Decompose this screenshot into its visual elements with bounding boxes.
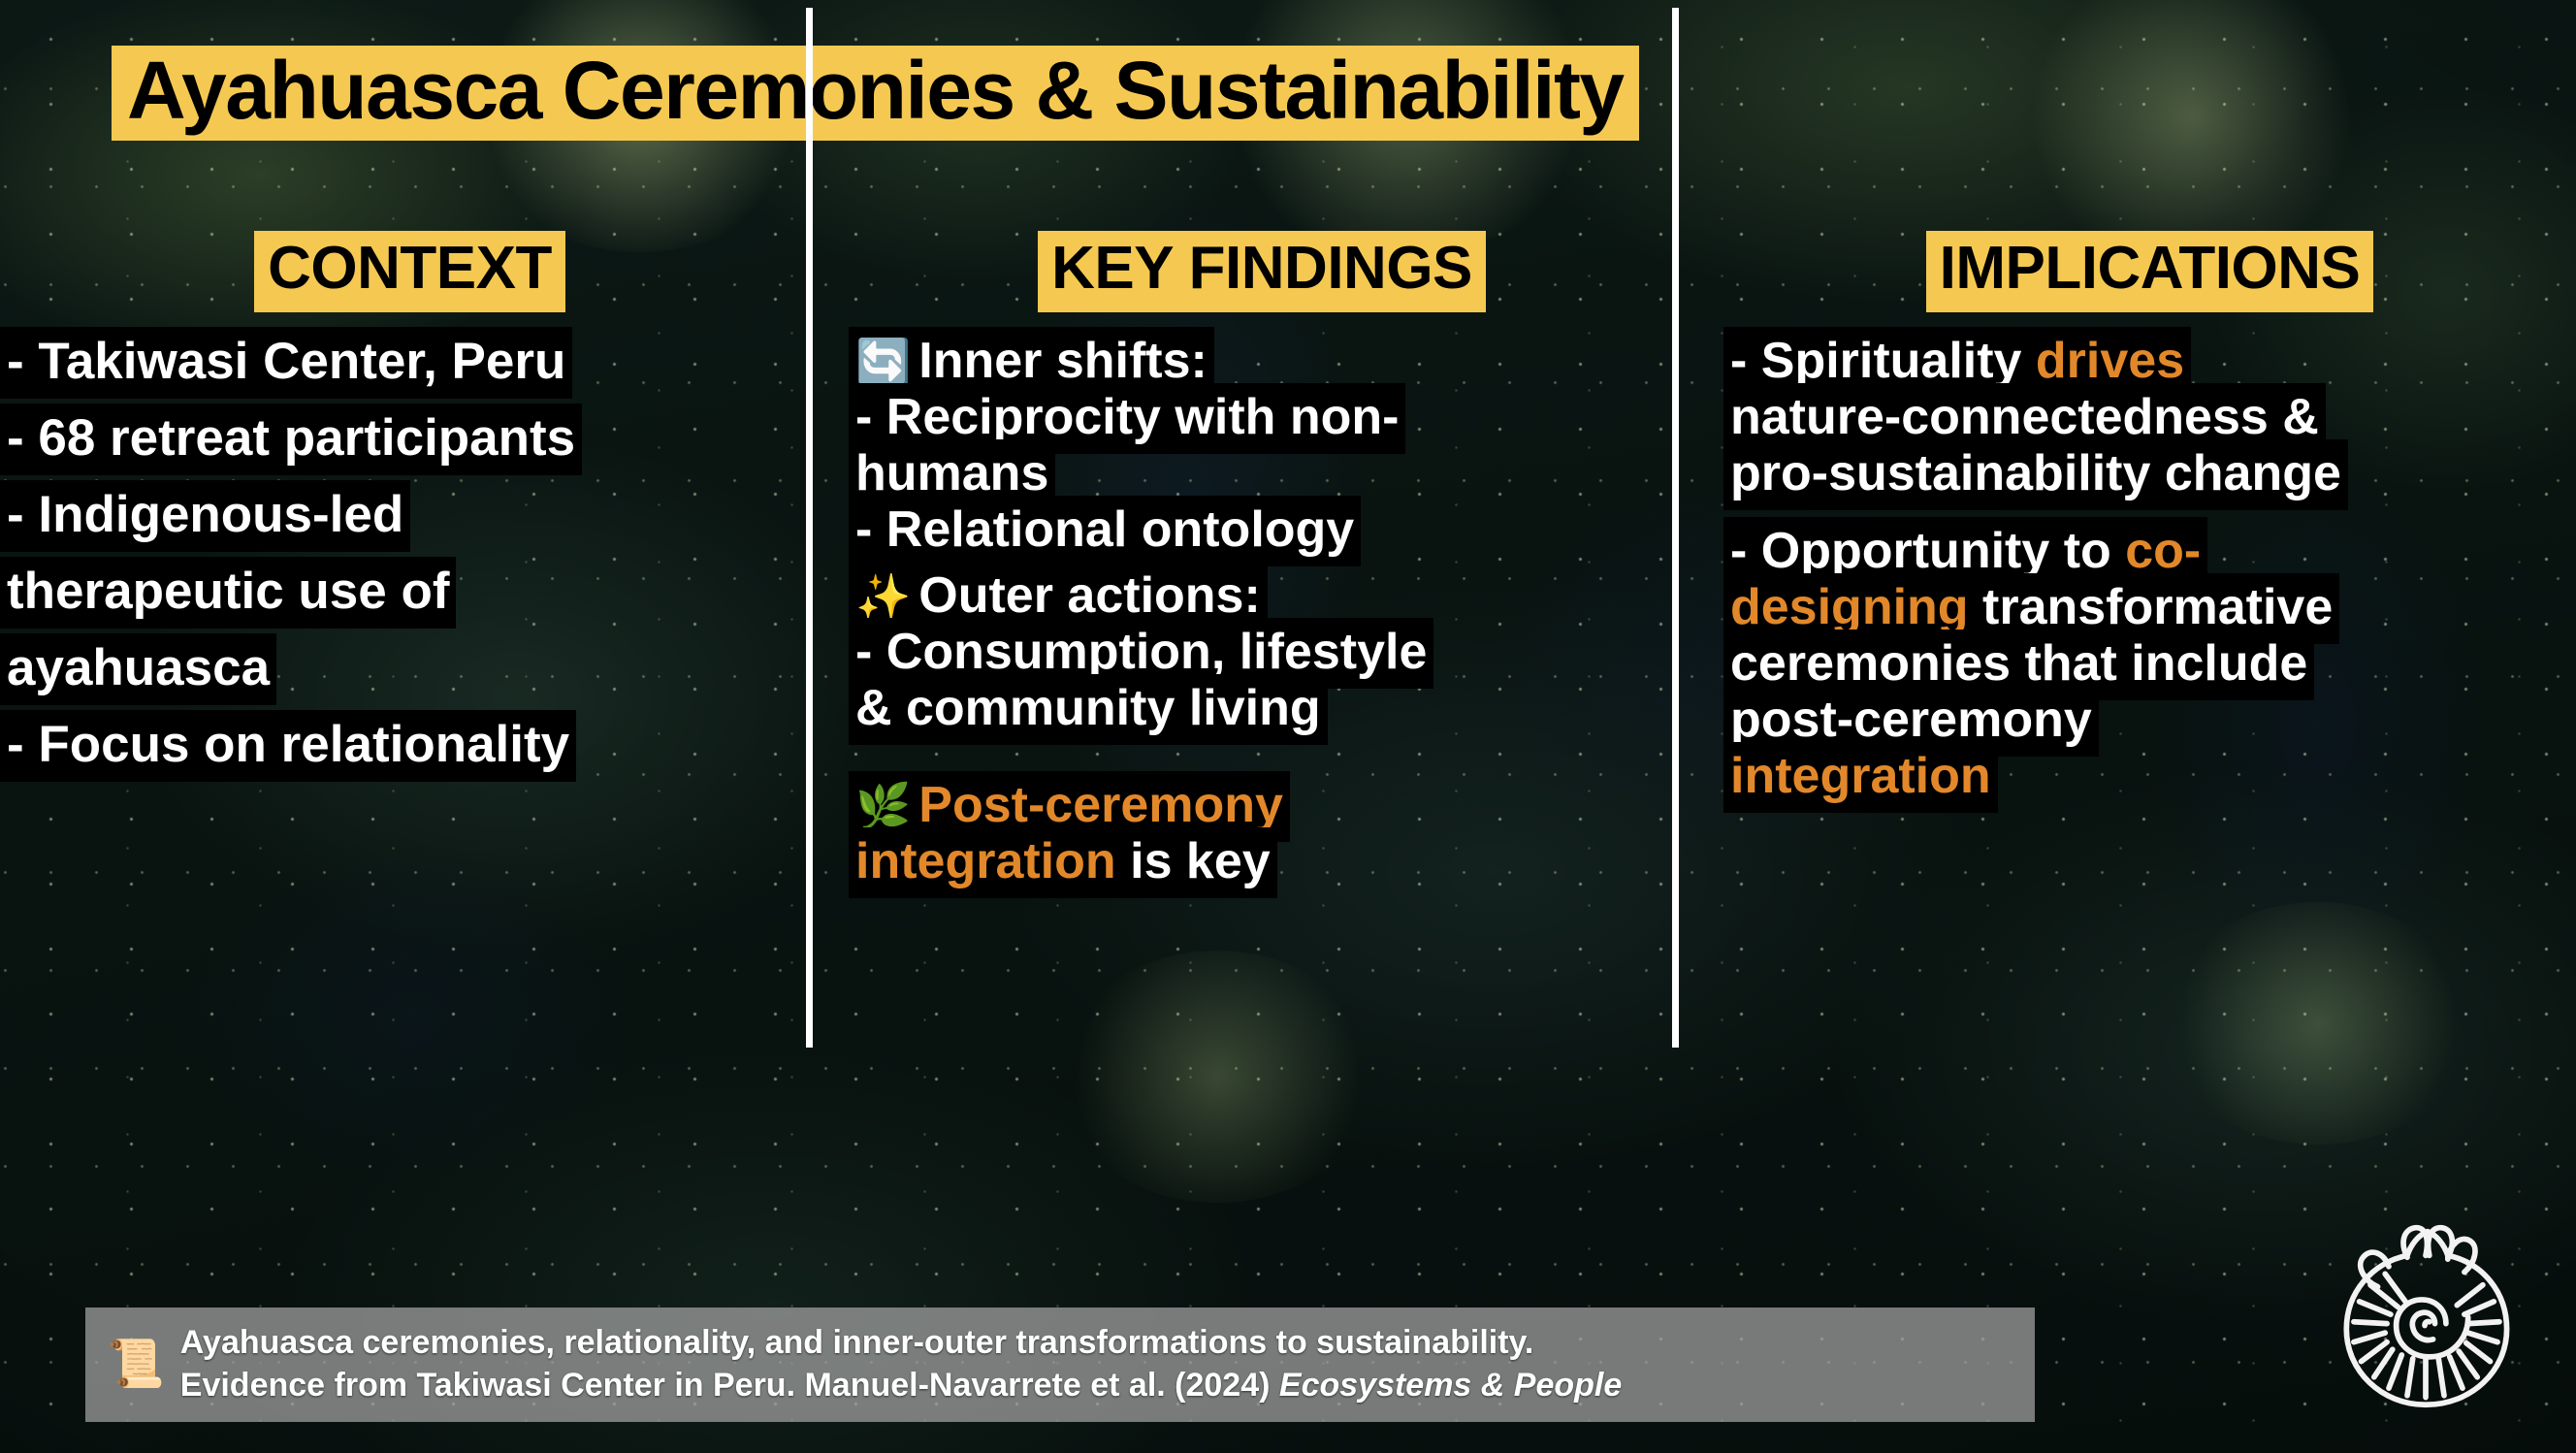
post-ceremony-line-2: integration is key [849, 836, 1675, 887]
implications-bullet1-line3: pro-sustainability change [1723, 448, 2576, 499]
inner-shifts-label: Inner shifts: [918, 333, 1207, 389]
outer-actions-label-line: ✨Outer actions: [849, 570, 1675, 621]
column-heading-implications: IMPLICATIONS [1926, 231, 2374, 312]
implications-bullet2-line5: integration [1723, 751, 2576, 801]
caption-line-1: Ayahuasca ceremonies, relationality, and… [180, 1322, 1623, 1365]
drives-orange: drives [2036, 333, 2184, 389]
columns-container: CONTEXT - Takiwasi Center, Peru - 68 ret… [0, 231, 2576, 1288]
context-body: - Takiwasi Center, Peru - 68 retreat par… [0, 336, 810, 770]
column-key-findings: KEY FINDINGS 🔄Inner shifts: - Reciprocit… [810, 231, 1675, 1288]
key-findings-body: 🔄Inner shifts: - Reciprocity with non- h… [849, 336, 1675, 887]
caption-citation: Evidence from Takiwasi Center in Peru. M… [180, 1367, 1279, 1404]
inner-shifts-bullet: - Relational ontology [849, 504, 1675, 555]
implications-bullet2-line3: ceremonies that include [1723, 638, 2576, 689]
column-divider-right [1672, 8, 1679, 1048]
outer-actions-bullet: & community living [849, 683, 1675, 733]
source-caption-bar: 📜 Ayahuasca ceremonies, relationality, a… [85, 1308, 2035, 1422]
implications-bullet2-line2: designing transformative [1723, 582, 2576, 632]
implications-bullet1-line2: nature-connectedness & [1723, 392, 2576, 442]
column-divider-left [806, 8, 813, 1048]
sparkles-icon: ✨ [855, 574, 911, 619]
column-heading-key-findings: KEY FINDINGS [1038, 231, 1486, 312]
ammonite-spiral-shell-logo [2334, 1220, 2518, 1414]
column-heading-context: CONTEXT [254, 231, 565, 312]
context-line: - Takiwasi Center, Peru [0, 336, 810, 387]
opportunity-white: - Opportunity to [1730, 523, 2125, 579]
column-implications: IMPLICATIONS - Spirituality drives natur… [1675, 231, 2576, 1288]
caption-line-2: Evidence from Takiwasi Center in Peru. M… [180, 1365, 1623, 1407]
page-title: Ayahuasca Ceremonies & Sustainability [127, 49, 1624, 131]
caption-journal-name: Ecosystems & People [1279, 1367, 1622, 1404]
implications-heading-row: IMPLICATIONS [1723, 231, 2576, 312]
implications-bullet2-line1: - Opportunity to co- [1723, 526, 2576, 576]
implications-bullet2-line4: post-ceremony [1723, 694, 2576, 745]
inner-shifts-bullet: - Reciprocity with non- [849, 392, 1675, 442]
column-context: CONTEXT - Takiwasi Center, Peru - 68 ret… [0, 231, 810, 1288]
key-findings-heading-row: KEY FINDINGS [849, 231, 1675, 312]
implications-body: - Spirituality drives nature-connectedne… [1723, 336, 2576, 801]
transformative-white: transformative [1969, 579, 2334, 635]
integration-orange: integration [1730, 748, 1991, 804]
slide-root: Ayahuasca Ceremonies & Sustainability CO… [0, 0, 2576, 1453]
slide-title-banner: Ayahuasca Ceremonies & Sustainability [112, 46, 1639, 141]
counterclockwise-arrows-loop-icon: 🔄 [855, 339, 911, 384]
spirituality-white: - Spirituality [1730, 333, 2036, 389]
inner-shifts-bullet: humans [849, 448, 1675, 499]
context-line: - Focus on relationality [0, 719, 810, 770]
outer-actions-label: Outer actions: [918, 567, 1261, 624]
integration-orange: integration [855, 833, 1116, 889]
caption-text: Ayahuasca ceremonies, relationality, and… [180, 1322, 1623, 1406]
is-key-white: is key [1116, 833, 1271, 889]
herb-icon: 🌿 [855, 784, 911, 828]
context-line: - 68 retreat participants [0, 412, 810, 464]
context-line: - Indigenous-led [0, 489, 810, 540]
context-line: ayahuasca [0, 642, 810, 694]
scroll-icon: 📜 [107, 1341, 165, 1388]
context-heading-row: CONTEXT [0, 231, 810, 312]
context-line: therapeutic use of [0, 565, 810, 617]
post-ceremony-line-1: 🌿Post-ceremony [849, 780, 1675, 830]
post-ceremony-orange: Post-ceremony [918, 777, 1283, 833]
outer-actions-bullet: - Consumption, lifestyle [849, 627, 1675, 677]
co-orange: co- [2125, 523, 2201, 579]
designing-orange: designing [1730, 579, 1969, 635]
implications-bullet1-line1: - Spirituality drives [1723, 336, 2576, 386]
inner-shifts-label-line: 🔄Inner shifts: [849, 336, 1675, 386]
